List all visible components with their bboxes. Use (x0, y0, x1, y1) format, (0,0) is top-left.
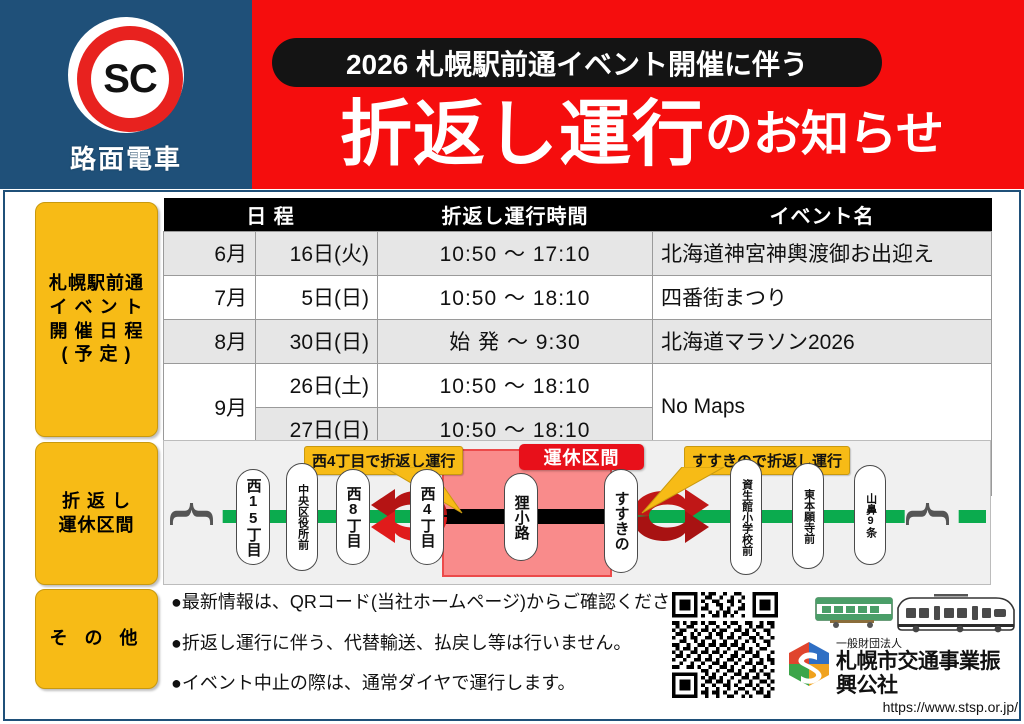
station-higashi-honganji-mae: 東本願寺前 (792, 463, 824, 569)
notes-list: ●最新情報は、QRコード(当社ホームページ)からご確認ください。 ●折返し運行に… (171, 592, 691, 714)
corporate-identity: 一般財団法人 札幌市交通事業振興公社 https://www.stsp.or.j… (786, 638, 1018, 718)
cell-month: 6月 (164, 231, 256, 275)
qr-code-icon[interactable] (672, 592, 778, 698)
route-break-left-icon: { (169, 502, 223, 527)
header-band: SC 路面電車 2026 札幌駅前通イベント開催に伴う 折返し運行のお知らせ (0, 0, 1024, 189)
station-nishi15chome: 西15丁目 (236, 469, 270, 565)
cell-day: 16日(火) (256, 231, 378, 275)
corporate-url[interactable]: https://www.stsp.or.jp/ (836, 698, 1018, 718)
label-turnback-section: 折 返 し 運休区間 (35, 442, 158, 585)
route-break-right-icon: { (905, 502, 959, 527)
tram-illustration-icon (810, 594, 1020, 640)
station-shiseikan-shogakko-mae: 資生館小学校前 (730, 459, 762, 575)
table-row: 8月 30日(日) 始 発 ～ 9:30 北海道マラソン2026 (164, 319, 992, 363)
table-header-time: 折返し運行時間 (378, 198, 653, 231)
label-schedule-line-1: 札幌駅前通 (49, 272, 144, 296)
note-item: ●折返し運行に伴う、代替輸送、払戻し等は行いません。 (171, 633, 691, 655)
label-schedule-line-4: ( 予 定 ) (62, 343, 132, 367)
suspended-zone-banner: 運休区間 (519, 444, 644, 470)
corporate-name: 札幌市交通事業振興公社 (836, 650, 1018, 698)
main-title: 折返し運行のお知らせ (262, 90, 1022, 180)
table-header-date: 日 程 (164, 198, 378, 231)
cell-event: 北海道マラソン2026 (653, 319, 992, 363)
label-section-line-1: 折 返 し (62, 490, 131, 514)
callout-right-tail-icon (634, 467, 724, 519)
cell-month: 8月 (164, 319, 256, 363)
station-nishi8chome: 西8丁目 (336, 469, 370, 565)
label-schedule-line-3: 開 催 日 程 (49, 320, 143, 344)
cell-day: 30日(日) (256, 319, 378, 363)
note-item: ●イベント中止の際は、通常ダイヤで運行します。 (171, 673, 691, 695)
table-row: 6月 16日(火) 10:50 ～ 17:10 北海道神宮神輿渡御お出迎え (164, 231, 992, 275)
qr-code[interactable] (672, 592, 778, 698)
label-other: そ の 他 (35, 589, 158, 689)
cell-month: 9月 (164, 363, 256, 451)
cell-event: No Maps (653, 363, 992, 451)
cell-day-text: 26日(土) (290, 375, 369, 398)
station-tanukikoji: 狸小路 (504, 473, 538, 561)
label-section-line-2: 運休区間 (59, 514, 135, 538)
cell-day: 5日(日) (256, 275, 378, 319)
cell-day-text: 30日(日) (290, 331, 369, 354)
cell-time: 10:50 ～ 18:10 (378, 275, 653, 319)
main-title-primary: 折返し運行 (340, 99, 705, 171)
cell-day-text: 16日(火) (290, 243, 369, 266)
station-chuo-kuyakusho-mae: 中央区役所前 (286, 463, 318, 571)
cell-day-text: 5日(日) (301, 287, 369, 310)
sc-logo-caption: 路面電車 (46, 139, 206, 176)
sc-logo-inner: SC (91, 40, 169, 118)
corporate-text: 一般財団法人 札幌市交通事業振興公社 https://www.stsp.or.j… (836, 638, 1018, 718)
poster-root: SC 路面電車 2026 札幌駅前通イベント開催に伴う 折返し運行のお知らせ 札… (0, 0, 1024, 724)
subtitle-pill: 2026 札幌駅前通イベント開催に伴う (272, 38, 882, 87)
table-row: 7月 5日(日) 10:50 ～ 18:10 四番街まつり (164, 275, 992, 319)
subtitle-text: 2026 札幌駅前通イベント開催に伴う (346, 43, 808, 83)
cell-time: 10:50 ～ 17:10 (378, 231, 653, 275)
cell-month: 7月 (164, 275, 256, 319)
main-title-secondary: のお知らせ (705, 111, 944, 159)
sc-logo-text: SC (103, 59, 157, 99)
station-susukino: すすきの (604, 469, 638, 573)
station-nishi4chome: 西4丁目 (410, 469, 444, 565)
route-diagram: 運休区間 { { 西4丁目で折返し運行 すすきので折返し運行 (163, 440, 991, 585)
footer-branding: 一般財団法人 札幌市交通事業振興公社 https://www.stsp.or.j… (786, 594, 1018, 702)
cell-event: 北海道神宮神輿渡御お出迎え (653, 231, 992, 275)
stsp-hexagon-logo-icon (786, 641, 832, 687)
label-other-line-1: そ の 他 (49, 627, 143, 651)
sc-logo: SC 路面電車 (46, 12, 206, 182)
cell-day: 26日(土) (256, 363, 378, 407)
table-header-event: イベント名 (653, 198, 992, 231)
label-event-schedule: 札幌駅前通 イ ベ ン ト 開 催 日 程 ( 予 定 ) (35, 202, 158, 437)
corporate-kind: 一般財団法人 (836, 638, 1018, 650)
label-schedule-line-2: イ ベ ン ト (49, 296, 143, 320)
sc-logo-circle-icon: SC (68, 17, 184, 133)
note-item: ●最新情報は、QRコード(当社ホームページ)からご確認ください。 (171, 592, 691, 614)
cell-event: 四番街まつり (653, 275, 992, 319)
table-row: 9月 26日(土) 10:50 ～ 18:10 No Maps (164, 363, 992, 407)
cell-day-text: 27日(日) (290, 419, 369, 442)
cell-time: 始 発 ～ 9:30 (378, 319, 653, 363)
station-yamahana9jo: 山鼻9条 (854, 465, 886, 565)
table-header-row: 日 程 折返し運行時間 イベント名 (164, 198, 992, 231)
cell-time: 10:50 ～ 18:10 (378, 363, 653, 407)
